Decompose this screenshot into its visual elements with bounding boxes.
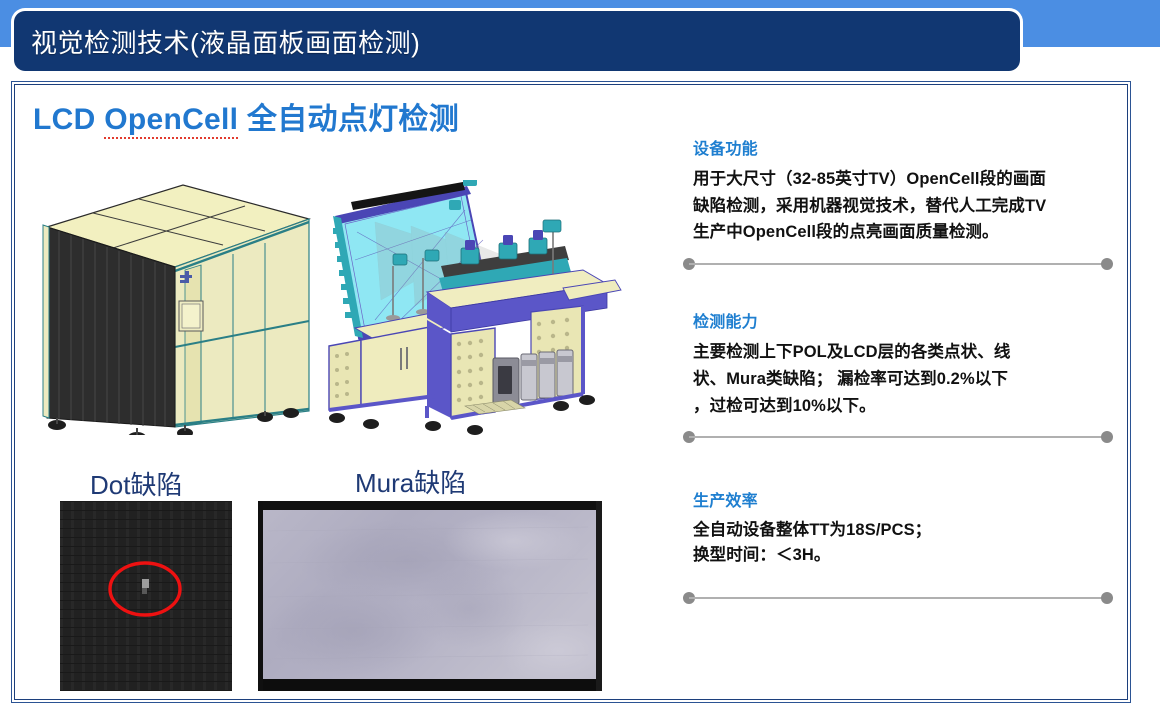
dot-defect-label: Dot缺陷 [90,465,182,502]
spec-heading-function: 设备功能 [693,135,1115,159]
spec-body-function: 用于大尺寸（32-85英寸TV）OpenCell段的画面 缺陷检测，采用机器视觉… [693,166,1115,246]
divider-line [689,597,1105,599]
section-divider [681,590,1113,606]
spec-line: 缺陷检测，采用机器视觉技术，替代人工完成TV [693,193,1115,220]
spec-body-efficiency: 全自动设备整体TT为18S/PCS； 换型时间：＜3H。 [693,518,1115,568]
content-frame: LCD OpenCell 全自动点灯检测 [14,84,1128,700]
spec-line: ，过检可达到10%以下。 [693,393,1115,420]
spec-block-function: 设备功能 用于大尺寸（32-85英寸TV）OpenCell段的画面 缺陷检测，采… [675,135,1115,272]
spec-line: 状、Mura类缺陷； 漏检率可达到0.2%以下 [693,366,1115,393]
spec-line: 全自动设备整体TT为18S/PCS； [693,518,1115,543]
divider-line [689,436,1105,438]
divider-dot-right [1101,431,1113,443]
section-divider [681,429,1113,445]
section-heading-prefix: LCD [33,103,104,136]
section-heading-suffix: 全自动点灯检测 [238,103,459,136]
spec-line: 主要检测上下POL及LCD层的各类点状、线 [693,339,1115,366]
page-title: 视觉检测技术(液晶面板画面检测) [14,23,420,60]
mura-defect-sample [258,501,602,691]
section-heading-mark: OpenCell [104,103,238,139]
spec-block-efficiency: 生产效率 全自动设备整体TT为18S/PCS； 换型时间：＜3H。 [675,487,1115,606]
spec-heading-capability: 检测能力 [693,308,1115,332]
dot-defect-sample [60,501,232,691]
mura-defect-label: Mura缺陷 [355,463,466,500]
divider-dot-right [1101,258,1113,270]
machine-inspection-station-illustration [315,180,625,435]
machine-enclosure-illustration [33,175,323,435]
spec-body-capability: 主要检测上下POL及LCD层的各类点状、线 状、Mura类缺陷； 漏检率可达到0… [693,339,1115,419]
spec-list: 设备功能 用于大尺寸（32-85英寸TV）OpenCell段的画面 缺陷检测，采… [675,135,1115,606]
spec-block-capability: 检测能力 主要检测上下POL及LCD层的各类点状、线 状、Mura类缺陷； 漏检… [675,308,1115,445]
slide-title-plate: 视觉检测技术(液晶面板画面检测) [14,11,1020,71]
divider-line [689,263,1105,265]
section-heading: LCD OpenCell 全自动点灯检测 [33,94,459,138]
section-divider [681,256,1113,272]
spec-line: 用于大尺寸（32-85英寸TV）OpenCell段的画面 [693,166,1115,193]
spec-line: 换型时间：＜3H。 [693,543,1115,568]
spec-line: 生产中OpenCell段的点亮画面质量检测。 [693,219,1115,246]
spec-heading-efficiency: 生产效率 [693,487,1115,511]
divider-dot-right [1101,592,1113,604]
